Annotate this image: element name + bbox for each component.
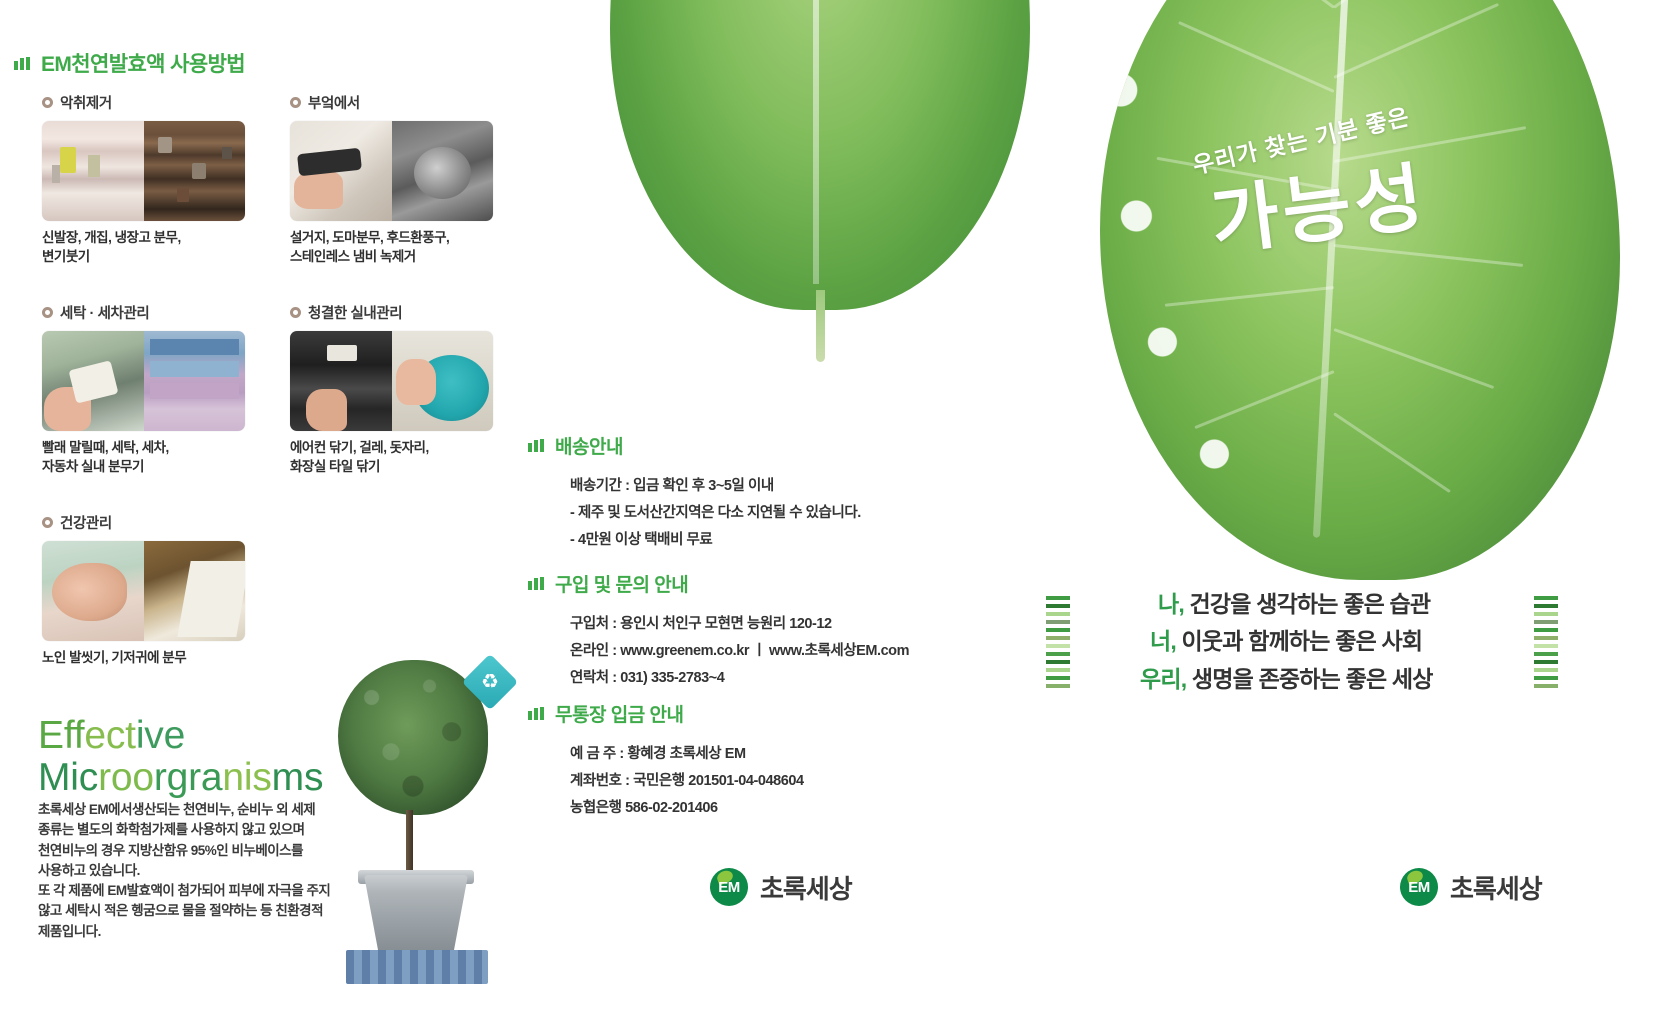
leaf-side-veins [1100,0,1620,580]
bullet-dot-icon [42,517,53,528]
usage-card-caption: 노인 발씻기, 기저귀에 분무 [42,649,247,668]
slogan-highlight: 우리, [1140,666,1186,692]
em-badge-icon: EM [710,868,748,906]
usage-card-title: 악취제거 [60,92,112,113]
usage-card-health: 건강관리 노인 발씻기, 기저귀에 분무 [42,512,247,668]
middle-leaf-image [610,0,1030,310]
usage-card-caption: 빨래 말릴때, 세탁, 세차, 자동차 실내 분무기 [42,439,247,476]
usage-card-subhead: 부엌에서 [290,92,495,113]
hero-calligraphy: 우리가 찾는 기분 좋은 가능성 [1180,100,1600,260]
slogan-rest: 건강을 생각하는 좋은 습관 [1184,591,1430,617]
refrigerator-photo [42,121,245,221]
em-badge-icon: EM [1400,868,1438,906]
usage-card-subhead: 악취제거 [42,92,247,113]
usage-card-odor: 악취제거 신발장, 개집, 냉장고 분무, 변기붓기 [42,92,247,266]
slogan-highlight: 나, [1158,591,1184,617]
brand-name: 초록세상 [1450,869,1542,906]
usage-card-title: 부엌에서 [308,92,360,113]
bars-icon [528,577,544,590]
slogan-highlight: 너, [1150,628,1176,654]
stacked-books [346,950,488,984]
slogan-line-1: 나, 건강을 생각하는 좋은 습관 [1140,586,1640,623]
purchase-heading-text: 구입 및 문의 안내 [555,570,688,597]
bullet-dot-icon [290,97,301,108]
left-panel: EM천연발효액 사용방법 악취제거 신발장, 개집, 냉장고 분무, 변기붓기 [0,0,520,1024]
usage-card-title: 청결한 실내관리 [308,302,402,323]
effective-microorganisms-title: Effective Microorgranisms [38,715,323,799]
brand-name: 초록세상 [760,869,852,906]
usage-section-heading: EM천연발효액 사용방법 [14,48,245,78]
bank-info-block: 무통장 입금 안내 예 금 주 : 황혜경 초록세상 EM 계좌번호 : 국민은… [528,700,804,821]
laundry-photo [42,331,245,431]
delivery-heading: 배송안내 [528,432,861,459]
bullet-dot-icon [42,307,53,318]
bank-details: 예 금 주 : 황혜경 초록세상 EM 계좌번호 : 국민은행 201501-0… [570,741,804,821]
potted-plant-illustration [320,660,540,960]
bars-icon [528,707,544,720]
middle-leaf-stem [816,290,825,362]
usage-card-caption: 신발장, 개집, 냉장고 분무, 변기붓기 [42,229,247,266]
middle-brand-logo: EM 초록세상 [710,868,852,906]
usage-card-laundry: 세탁 · 세차관리 빨래 말릴때, 세탁, 세차, 자동차 실내 분무기 [42,302,247,476]
dishwashing-photo [290,121,493,221]
usage-heading-text: EM천연발효액 사용방법 [41,48,245,78]
purchase-heading: 구입 및 문의 안내 [528,570,909,597]
usage-card-indoor: 청결한 실내관리 에어컨 닦기, 걸레, 돗자리, 화장실 타일 닦기 [290,302,495,476]
usage-card-caption: 에어컨 닦기, 걸레, 돗자리, 화장실 타일 닦기 [290,439,495,476]
right-brand-logo: EM 초록세상 [1400,868,1542,906]
bullet-dot-icon [42,97,53,108]
air-conditioner-photo [290,331,493,431]
delivery-info-block: 배송안내 배송기간 : 입금 확인 후 3~5일 이내 - 제주 및 도서산간지… [528,432,861,553]
usage-card-kitchen: 부엌에서 설거지, 도마분무, 후드환풍구, 스테인레스 냄비 녹제거 [290,92,495,266]
hero-leaf-image [1100,0,1620,580]
bank-heading: 무통장 입금 안내 [528,700,804,727]
foot-wash-photo [42,541,245,641]
em-title-line1: Effective [38,715,323,757]
usage-card-subhead: 건강관리 [42,512,247,533]
slogan-line-3: 우리, 생명을 존중하는 좋은 세상 [1140,661,1640,698]
middle-panel: 배송안내 배송기간 : 입금 확인 후 3~5일 이내 - 제주 및 도서산간지… [520,0,1040,1024]
bars-icon [528,439,544,452]
slogan-rest: 생명을 존중하는 좋은 세상 [1186,666,1432,692]
purchase-details: 구입처 : 용인시 처인구 모현면 능원리 120-12 온라인 : www.g… [570,611,909,691]
bullet-dot-icon [290,307,301,318]
slogan-line-2: 너, 이웃과 함께하는 좋은 사회 [1140,623,1640,660]
left-stripes-decoration [1046,596,1070,692]
purchase-info-block: 구입 및 문의 안내 구입처 : 용인시 처인구 모현면 능원리 120-12 … [528,570,909,691]
delivery-details: 배송기간 : 입금 확인 후 3~5일 이내 - 제주 및 도서산간지역은 다소… [570,473,861,553]
usage-card-title: 세탁 · 세차관리 [60,302,149,323]
usage-card-title: 건강관리 [60,512,112,533]
em-description-text: 초록세상 EM에서생산되는 천연비누, 순비누 외 세제 종류는 별도의 화학첨… [38,800,368,942]
em-title-line2: Microorgranisms [38,757,323,799]
brochure-page: EM천연발효액 사용방법 악취제거 신발장, 개집, 냉장고 분무, 변기붓기 [0,0,1670,1024]
usage-card-caption: 설거지, 도마분무, 후드환풍구, 스테인레스 냄비 녹제거 [290,229,495,266]
plant-pot [364,875,468,953]
slogan-list: 나, 건강을 생각하는 좋은 습관 너, 이웃과 함께하는 좋은 사회 우리, … [1140,586,1640,698]
slogan-rest: 이웃과 함께하는 좋은 사회 [1176,628,1422,654]
usage-card-subhead: 세탁 · 세차관리 [42,302,247,323]
delivery-heading-text: 배송안내 [555,432,623,459]
bars-icon [14,57,30,70]
bank-heading-text: 무통장 입금 안내 [555,700,683,727]
right-panel: 우리가 찾는 기분 좋은 가능성 나, 건강을 생각하는 좋은 습관 너, 이웃… [1040,0,1670,1024]
usage-card-subhead: 청결한 실내관리 [290,302,495,323]
